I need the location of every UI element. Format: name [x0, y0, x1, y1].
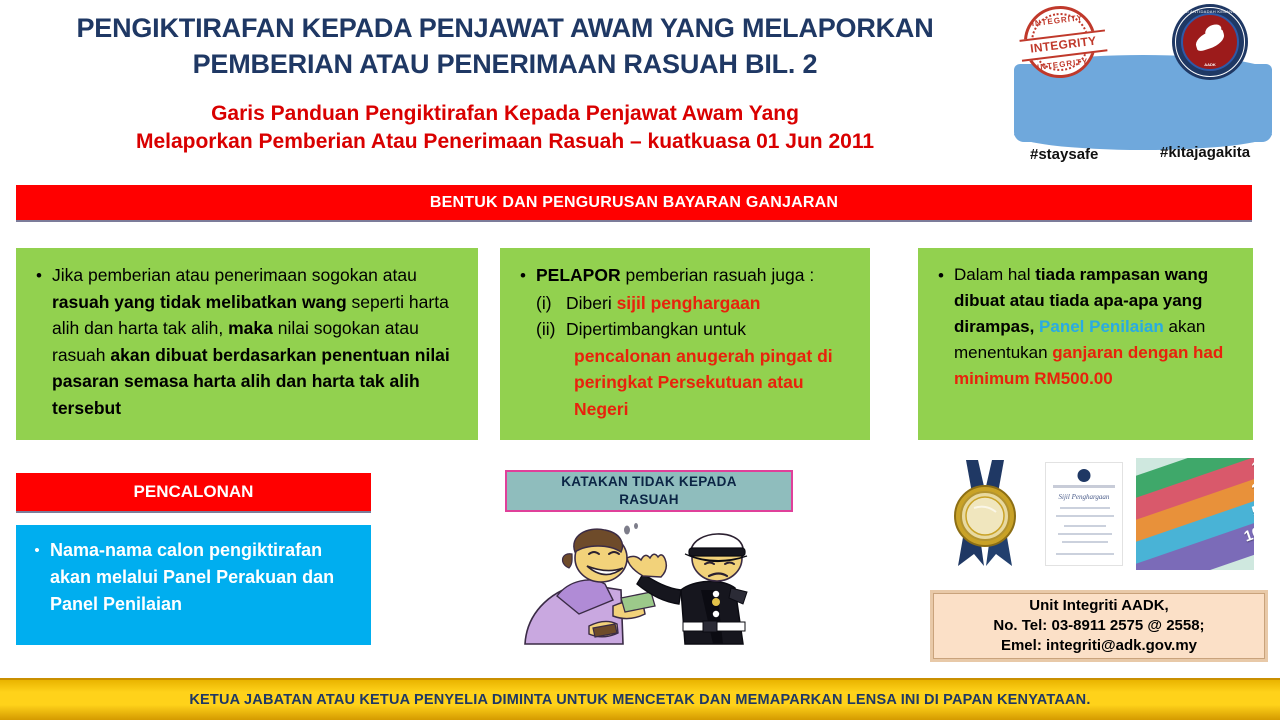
green-box-2-text: PELAPOR pemberian rasuah juga : (i) Dibe…: [536, 262, 860, 422]
page-subtitle: Garis Panduan Pengiktirafan Kepada Penja…: [0, 100, 1010, 156]
officer-figure: [627, 534, 747, 644]
bullet-row: • Jika pemberian atau penerimaan sogokan…: [26, 262, 468, 421]
infographic-poster: PENGIKTIRAFAN KEPADA PENJAWAT AWAM YANG …: [0, 0, 1280, 720]
pencalonan-blue-box: • Nama-nama calon pengiktirafan akan mel…: [16, 525, 371, 645]
certificate-title: Sijil Penghargaan: [1046, 493, 1122, 501]
cartoon-panel: KATAKAN TIDAK KEPADA RASUAH: [505, 470, 797, 648]
contact-line-3: Emel: integriti@adk.gov.my: [1001, 636, 1197, 656]
footer-banner: KETUA JABATAN ATAU KETUA PENYELIA DIMINT…: [0, 678, 1280, 720]
certificate-body-line: [1062, 541, 1108, 543]
bullet-row: • PELAPOR pemberian rasuah juga : (i) Di…: [510, 262, 860, 422]
pencalonan-banner: PENCALONAN: [16, 473, 371, 511]
seg-4-panel-penilaian: Panel Penilaian: [1039, 317, 1164, 336]
roman-i-seg2: sijil penghargaan: [617, 293, 761, 313]
aadk-seal-icon: AGENSI ANTIDADAH KEBANGSAAN AADK: [1172, 4, 1248, 80]
bullet-icon: •: [26, 262, 52, 289]
green-box-3-text: Dalam hal tiada rampasan wang dibuat ata…: [954, 262, 1243, 392]
awards-strip: Sijil Penghargaan 5 10 20 50 100: [950, 458, 1255, 570]
seal-badge-label: AADK: [1172, 62, 1248, 67]
roman-text-i: Diberi sijil penghargaan: [566, 290, 860, 317]
contact-line-2: No. Tel: 03-8911 2575 @ 2558;: [993, 616, 1204, 636]
seg-6: akan dibuat berdasarkan penentuan nilai …: [52, 345, 450, 418]
roman-ii-continuation: pencalonan anugerah pingat di peringkat …: [536, 343, 860, 423]
pelapor-roman-list: (i) Diberi sijil penghargaan (ii) Dipert…: [536, 290, 860, 423]
page-title: PENGIKTIRAFAN KEPADA PENJAWAT AWAM YANG …: [0, 10, 1010, 82]
seg-4: maka: [228, 318, 273, 338]
hashtag-kitajagakita: #kitajagakita: [1160, 144, 1250, 161]
roman-marker-i: (i): [536, 290, 566, 317]
seg-1: Dalam hal: [954, 265, 1035, 284]
green-box-pelapor: • PELAPOR pemberian rasuah juga : (i) Di…: [500, 248, 870, 440]
certificate-seal-icon: [1078, 469, 1091, 482]
seg-1: Jika pemberian atau penerimaan sogokan a…: [52, 265, 417, 285]
gold-medal-icon: [950, 460, 1020, 568]
briber-figure: [525, 529, 655, 644]
roman-item-i: (i) Diberi sijil penghargaan: [536, 290, 860, 317]
pencalonan-text: Nama-nama calon pengiktirafan akan melal…: [50, 537, 361, 618]
katakan-line-2: RASUAH: [561, 491, 737, 509]
dove-icon: [1193, 28, 1226, 52]
green-box-panel-penilaian: • Dalam hal tiada rampasan wang dibuat a…: [918, 248, 1253, 440]
footer-label: KETUA JABATAN ATAU KETUA PENYELIA DIMINT…: [189, 692, 1090, 708]
title-line-2: PEMBERIAN ATAU PENERIMAAN RASUAH BIL. 2: [0, 46, 1010, 82]
ringgit-banknotes-image: 5 10 20 50 100: [1136, 458, 1254, 570]
bullet-icon: •: [510, 262, 536, 289]
roman-marker-ii: (ii): [536, 316, 566, 343]
roman-item-ii: (ii) Dipertimbangkan untuk: [536, 316, 860, 343]
green-box-1-text: Jika pemberian atau penerimaan sogokan a…: [52, 262, 468, 421]
subtitle-line-2: Melaporkan Pemberian Atau Penerimaan Ras…: [0, 128, 1010, 156]
bullet-icon: •: [24, 537, 50, 564]
hashtag-staysafe: #staysafe: [1030, 146, 1098, 163]
bullet-icon: •: [928, 262, 954, 289]
bullet-row: • Nama-nama calon pengiktirafan akan mel…: [24, 537, 361, 618]
katakan-line-1: KATAKAN TIDAK KEPADA: [561, 473, 737, 491]
katakan-tidak-banner: KATAKAN TIDAK KEPADA RASUAH: [505, 470, 793, 512]
certificate-body-line: [1056, 515, 1114, 517]
certificate-body-line: [1060, 507, 1110, 509]
pelapor-lead-bold: PELAPOR: [536, 265, 621, 285]
bullet-row: • Dalam hal tiada rampasan wang dibuat a…: [928, 262, 1243, 392]
section-banner: BENTUK DAN PENGURUSAN BAYARAN GANJARAN: [16, 185, 1252, 220]
bribery-refusal-illustration: [517, 518, 787, 646]
subtitle-line-1: Garis Panduan Pengiktirafan Kepada Penja…: [0, 100, 1010, 128]
pelapor-lead-rest: pemberian rasuah juga :: [621, 265, 815, 285]
green-box-nilai-pasaran: • Jika pemberian atau penerimaan sogokan…: [16, 248, 478, 440]
certificate-body-line: [1058, 533, 1112, 535]
seg-2: rasuah yang tidak melibatkan wang: [52, 292, 347, 312]
certificate-header-line: [1053, 485, 1115, 488]
title-line-1: PENGIKTIRAFAN KEPADA PENJAWAT AWAM YANG …: [0, 10, 1010, 46]
certificate-footer-line: [1056, 553, 1114, 555]
contact-box: Unit Integriti AADK, No. Tel: 03-8911 25…: [930, 590, 1268, 662]
certificate-body-line: [1064, 525, 1106, 527]
roman-i-seg1: Diberi: [566, 293, 617, 313]
roman-text-ii: Dipertimbangkan untuk: [566, 316, 860, 343]
certificate-thumbnail: Sijil Penghargaan: [1045, 462, 1123, 566]
sweat-drops: [624, 523, 638, 535]
logo-cluster: LENSA INTEGRITI AADK : BIL 9/2020 INTEGR…: [1008, 2, 1280, 168]
contact-line-1: Unit Integriti AADK,: [1029, 596, 1168, 616]
